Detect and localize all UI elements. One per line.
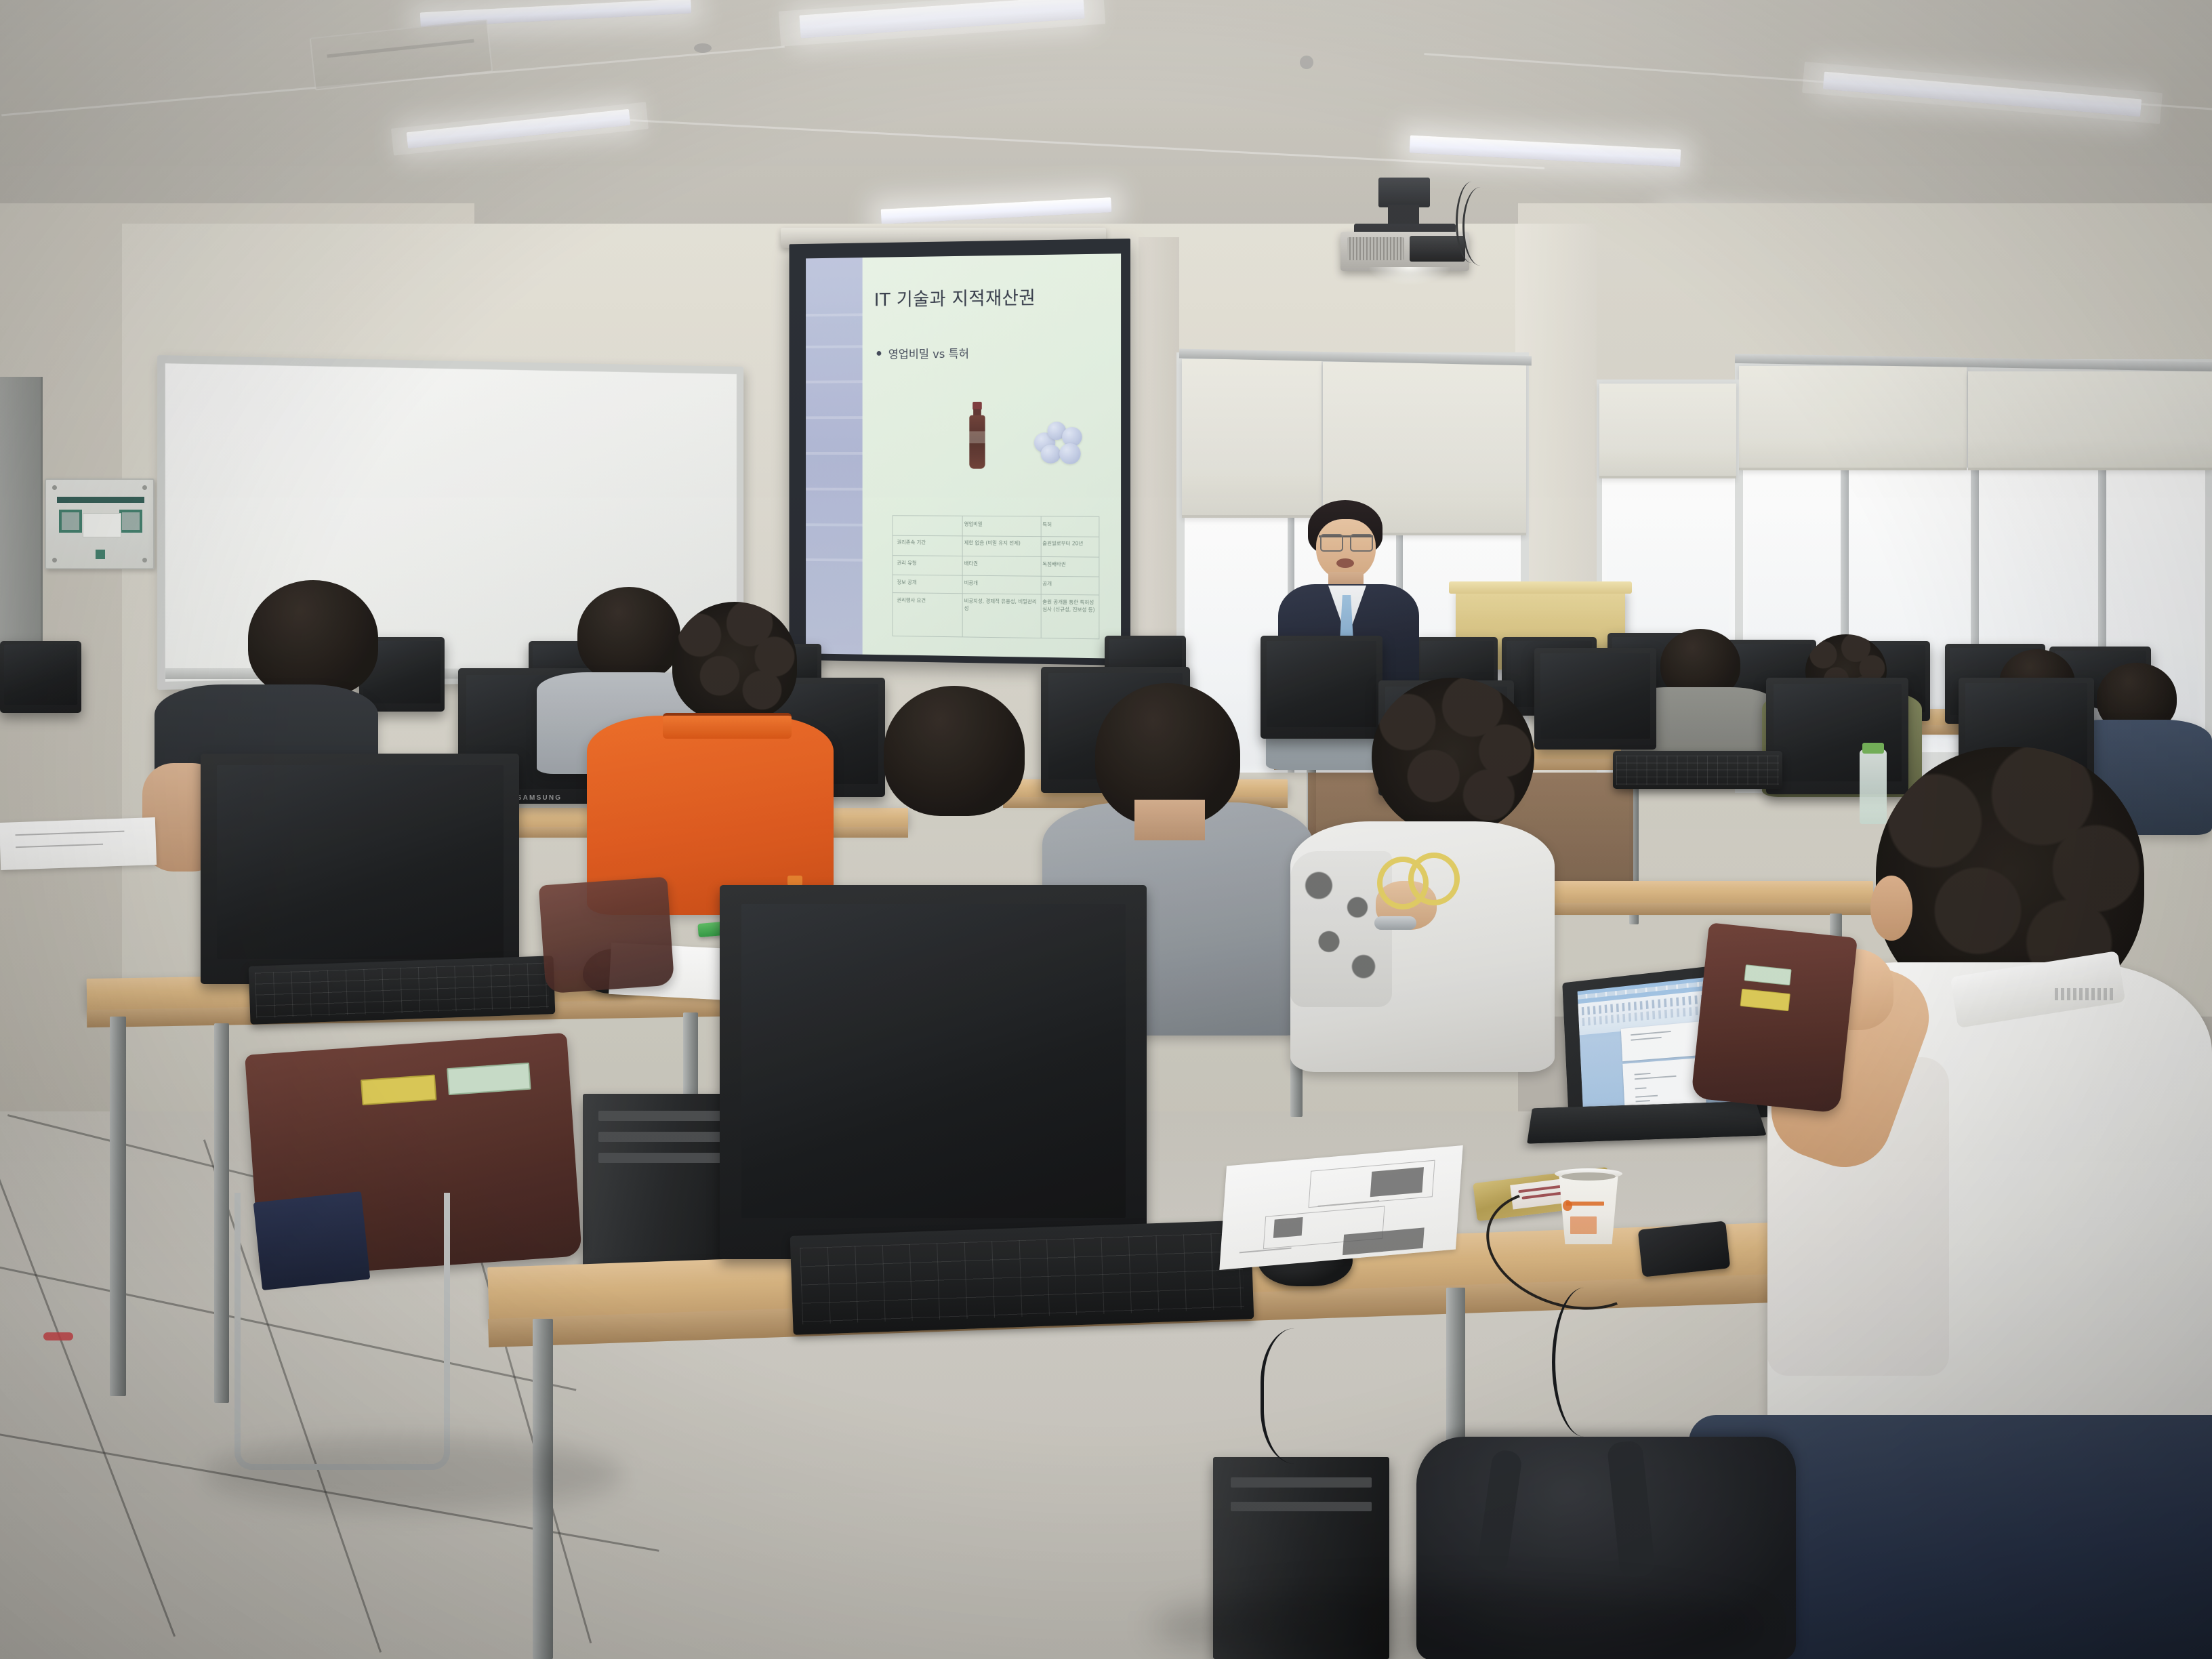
slide-title: IT 기술과 지적재산권 [874,282,1111,311]
water-bottle [1860,750,1887,824]
ceiling-light [881,197,1112,224]
monitor [0,641,81,713]
table-row: 출원일로부터 20년 [1040,538,1101,549]
wristwatch [1374,916,1416,930]
table-row: 출원 공개를 통한 특허성 심사 (신규성, 진보성 등) [1040,596,1101,615]
window-blind [1739,366,1967,470]
window-blind [1599,384,1736,478]
shoulder-logo [2055,988,2113,1000]
chair[interactable] [539,877,675,994]
student-head [672,602,797,721]
table-row: 제한 없음 (비밀 유지 전제) [962,538,1042,549]
cola-bottle-image [969,402,985,469]
student-ear [1870,876,1912,941]
window-blind [1968,371,2212,470]
slide-table: 영업비밀 특허 권리존속 기간 제한 없음 (비밀 유지 전제) 출원일로부터 … [893,515,1100,639]
asset-label [1740,989,1790,1011]
chair-cushion [253,1191,371,1290]
cup-interior [1561,1172,1616,1181]
table-header-cell: 영업비밀 [962,518,1040,529]
monitor [1766,678,1908,794]
shadow [203,1437,623,1511]
table-row: 정보 공개 [895,577,964,588]
table-row: 비공지성, 경제적 유용성, 비밀관리성 [962,596,1042,614]
samsung-logo: SAMSUNG [517,794,562,802]
projector-light [1369,267,1450,285]
student-head [577,587,680,682]
student-head [1372,678,1534,836]
ceiling-sensor [1300,56,1313,69]
monitor: SAMSUNG [201,754,519,984]
keyboard[interactable] [249,956,556,1025]
slide-sidebar [806,258,863,655]
projection-screen: IT 기술과 지적재산권 영업비밀 vs 특허 [790,239,1130,665]
paper-sheet [0,817,157,870]
paper-handout [1219,1145,1462,1270]
lectern-top [1449,581,1632,594]
ceiling-fitting [694,43,712,53]
monitor [1534,648,1656,750]
projector-vent [1347,237,1404,260]
instructor-mouth [1336,558,1354,568]
document-page [1621,1022,1703,1062]
smartphone[interactable] [1638,1221,1731,1277]
table-row: 배타권 [962,558,1042,569]
table-row: 권리 유형 [895,558,964,569]
student-head [248,580,378,697]
glasses-lens [1350,534,1373,552]
floor-marking [43,1332,73,1340]
glasses-lens [1320,534,1343,552]
desk-leg [110,1017,126,1396]
slide-bullet-text: 영업비밀 vs 특허 [888,344,969,362]
desk-leg [214,1023,229,1403]
monitor: SAMSUNG [720,885,1147,1259]
window-blind [1182,359,1322,518]
cabinet-door [0,377,43,661]
bottle-cap [1862,743,1884,754]
classroom-photo: IT 기술과 지적재산권 영업비밀 vs 특허 [0,0,2212,1659]
table-row: 공개 [1040,578,1101,589]
student-head [884,686,1025,816]
eyeglasses [1377,846,1452,911]
polo-collar [663,713,792,739]
cable-bundle [1261,1328,1345,1464]
presentation-slide: IT 기술과 지적재산권 영업비밀 vs 특허 [806,253,1121,659]
asset-label [447,1063,531,1095]
table-header-cell: 특허 [1040,519,1101,529]
projector-mount [1378,178,1430,207]
shadow [1152,1586,1762,1659]
table-row: 독점배타권 [1040,559,1101,570]
laptop-keyboard[interactable] [1527,1101,1767,1144]
asset-label [1744,964,1792,985]
wall-plaque [45,478,155,569]
ceiling-vent [310,19,493,90]
asset-label [361,1074,436,1105]
keyboard[interactable] [1613,751,1782,789]
table-row: 권리존속 기간 [895,537,964,548]
chair[interactable] [1691,922,1858,1113]
molecule-cluster-image [1033,422,1085,466]
student-neck [1134,800,1205,840]
ceiling-projector [1330,178,1486,272]
bullet-dot-icon [877,351,882,356]
monitor [1261,636,1382,739]
slide-bullet-row: 영업비밀 vs 특허 [877,343,1115,345]
table-row: 권리행사 요건 [895,595,964,606]
table-row: 비공개 [962,577,1042,588]
cable-bundle [1552,1288,1616,1437]
keyboard[interactable] [790,1220,1254,1335]
